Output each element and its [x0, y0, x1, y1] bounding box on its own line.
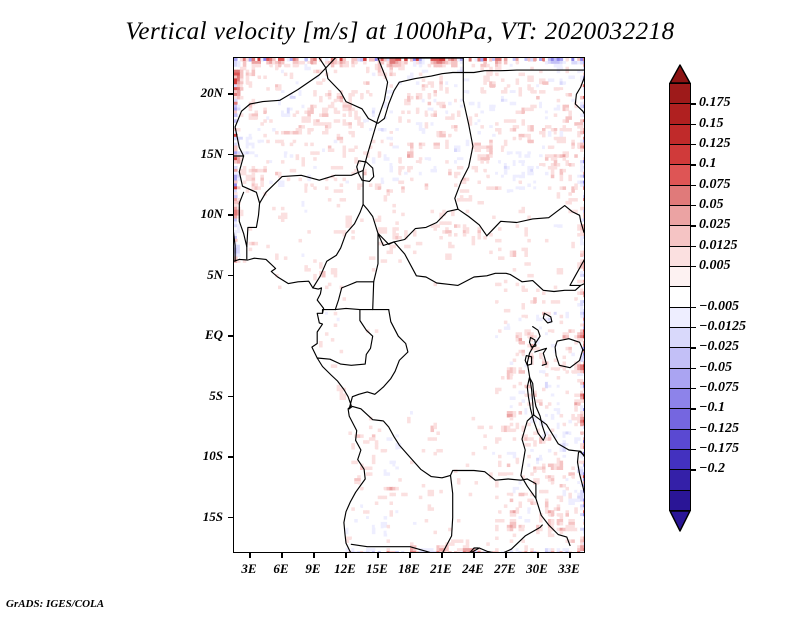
field-cell [340, 350, 344, 354]
field-cell [469, 111, 473, 115]
field-cell [433, 113, 437, 117]
colorbar-label: −0.2 [699, 461, 725, 477]
field-cell [360, 218, 364, 222]
field-cell [343, 198, 347, 202]
field-cell [313, 169, 317, 173]
colorbar-swatch [669, 124, 691, 146]
field-cell [548, 221, 552, 225]
field-cell [530, 108, 534, 112]
field-cell [565, 236, 569, 240]
field-cell [439, 236, 443, 240]
field-cell [290, 274, 294, 278]
colorbar-label: −0.175 [699, 441, 739, 457]
field-cell [560, 315, 564, 319]
x-tick [473, 553, 475, 558]
field-cell [322, 233, 326, 237]
field-cell [463, 496, 467, 500]
field-cell [519, 291, 523, 295]
field-cell [563, 186, 567, 190]
field-cell [278, 146, 282, 150]
x-tick [249, 553, 251, 558]
field-cell [293, 113, 297, 117]
footer-credit: GrADS: IGES/COLA [6, 598, 104, 610]
field-cell [296, 160, 300, 164]
field-cell [530, 274, 534, 278]
field-cell [516, 81, 520, 85]
field-cell [536, 364, 540, 368]
field-cell [530, 233, 534, 237]
field-cell [389, 513, 393, 517]
page-title: Vertical velocity [m/s] at 1000hPa, VT: … [0, 18, 800, 46]
field-cell [501, 519, 505, 523]
field-cell [445, 90, 449, 94]
field-cell [375, 516, 379, 520]
field-cell [521, 186, 525, 190]
field-cell [375, 329, 379, 333]
field-cell [419, 242, 423, 246]
field-cell [366, 461, 370, 465]
field-cell [530, 146, 534, 150]
field-cell [266, 245, 270, 249]
field-cell [472, 90, 476, 94]
field-cell [560, 370, 564, 374]
field-cell [272, 90, 276, 94]
field-cell [237, 160, 241, 164]
field-cell [527, 411, 531, 415]
field-cell [504, 236, 508, 240]
field-cell [475, 175, 479, 179]
field-cell [472, 534, 476, 538]
field-cell [436, 146, 440, 150]
field-cell [395, 221, 399, 225]
field-cell [480, 426, 484, 430]
field-cell [536, 288, 540, 292]
field-cell [568, 201, 572, 205]
field-cell [498, 455, 502, 459]
field-cell [542, 291, 546, 295]
field-cell [551, 175, 555, 179]
field-cell [510, 417, 514, 421]
colorbar-label: −0.1 [699, 400, 725, 416]
field-cell [307, 204, 311, 208]
field-cell [568, 178, 572, 182]
y-tick [228, 456, 233, 458]
colorbar-tick [691, 205, 696, 206]
field-cell [281, 224, 285, 228]
field-cell [498, 464, 502, 468]
colorbar-tick [691, 327, 696, 328]
colorbar-label: 0.005 [699, 258, 731, 274]
field-cell [480, 113, 484, 117]
field-cell [407, 119, 411, 123]
field-cell [433, 501, 437, 505]
field-cell [460, 539, 464, 543]
field-cell [252, 73, 256, 77]
colorbar-swatch [669, 103, 691, 125]
field-cell [354, 274, 358, 278]
field-cell [498, 67, 502, 71]
colorbar-tick [691, 103, 696, 104]
field-cell [568, 379, 572, 383]
field-cell [407, 183, 411, 187]
field-cell [480, 160, 484, 164]
field-cell [249, 248, 253, 252]
colorbar-tick [691, 408, 696, 409]
field-cell [542, 251, 546, 255]
field-cell [331, 64, 335, 68]
field-cell [530, 140, 534, 144]
field-cell [571, 539, 575, 543]
field-cell [384, 259, 388, 263]
field-cell [404, 175, 408, 179]
field-cell [299, 186, 303, 190]
field-cell [548, 324, 552, 328]
field-cell [463, 233, 467, 237]
field-cell [378, 192, 382, 196]
field-cell [316, 207, 320, 211]
field-cell [563, 356, 567, 360]
field-cell [334, 364, 338, 368]
x-tick-label: 21E [430, 561, 452, 577]
field-cell [296, 70, 300, 74]
field-cell [340, 189, 344, 193]
colorbar-tick [691, 266, 696, 267]
x-tick-label: 24E [462, 561, 484, 577]
field-cell [530, 487, 534, 491]
field-cell [504, 504, 508, 508]
field-cell [469, 504, 473, 508]
field-cell [510, 143, 514, 147]
field-cell [560, 522, 564, 526]
field-cell [451, 178, 455, 182]
field-cell [516, 396, 520, 400]
field-cell [252, 210, 256, 214]
field-cell [495, 513, 499, 517]
field-cell [398, 478, 402, 482]
field-cell [392, 528, 396, 532]
field-cell [521, 370, 525, 374]
field-cell [466, 189, 470, 193]
field-cell [401, 528, 405, 532]
field-cell [381, 490, 385, 494]
field-cell [375, 501, 379, 505]
field-cell [304, 213, 308, 217]
field-cell [425, 536, 429, 540]
field-cell [521, 73, 525, 77]
field-cell [313, 277, 317, 281]
field-cell [451, 137, 455, 141]
field-cell [454, 183, 458, 187]
field-cell [325, 332, 329, 336]
x-tick [505, 553, 507, 558]
field-cell [557, 99, 561, 103]
field-cell [489, 525, 493, 529]
field-cell [281, 183, 285, 187]
field-cell [260, 122, 264, 126]
colorbar-swatch [669, 144, 691, 166]
field-cell [357, 67, 361, 71]
field-cell [560, 466, 564, 470]
field-cell [533, 443, 537, 447]
field-cell [469, 198, 473, 202]
field-cell [501, 256, 505, 260]
field-cell [431, 493, 435, 497]
y-tick [228, 214, 233, 216]
field-cell [439, 181, 443, 185]
field-cell [524, 113, 528, 117]
field-cell [398, 96, 402, 100]
field-cell [407, 198, 411, 202]
field-cell [457, 519, 461, 523]
field-cell [560, 531, 564, 535]
field-cell [439, 449, 443, 453]
field-cell [445, 146, 449, 150]
field-cell [345, 64, 349, 68]
field-cell [340, 329, 344, 333]
field-cell [448, 507, 452, 511]
field-cell [257, 131, 261, 135]
field-cell [357, 513, 361, 517]
field-cell [554, 539, 558, 543]
field-cell [483, 446, 487, 450]
field-cell [319, 186, 323, 190]
field-cell [351, 64, 355, 68]
field-cell [334, 259, 338, 263]
field-cell [334, 347, 338, 351]
colorbar-label: 0.05 [699, 197, 724, 213]
colorbar-swatch [669, 225, 691, 247]
y-tick-label: 5N [207, 267, 223, 283]
field-cell [363, 224, 367, 228]
field-cell [360, 154, 364, 158]
field-cell [325, 321, 329, 325]
field-cell [366, 251, 370, 255]
field-cell [433, 531, 437, 535]
field-cell [331, 128, 335, 132]
field-cell [489, 426, 493, 430]
field-cell [583, 113, 585, 117]
field-cell [313, 84, 317, 88]
field-cell [348, 256, 352, 260]
field-cell [483, 434, 487, 438]
field-cell [539, 175, 543, 179]
field-cell [563, 224, 567, 228]
x-tick-label: 3E [241, 561, 256, 577]
field-cell [436, 207, 440, 211]
field-cell [384, 230, 388, 234]
map-frame [233, 57, 585, 553]
field-cell [475, 113, 479, 117]
field-cell [527, 183, 531, 187]
field-cell [507, 464, 511, 468]
field-cell [519, 356, 523, 360]
field-cell [395, 131, 399, 135]
field-cell [513, 437, 517, 441]
field-cell [475, 73, 479, 77]
field-cell [554, 487, 558, 491]
field-cell [345, 137, 349, 141]
colorbar-swatch [669, 205, 691, 227]
field-cell [477, 131, 481, 135]
field-cell [542, 300, 546, 304]
field-cell [545, 490, 549, 494]
field-cell [249, 84, 253, 88]
field-cell [433, 192, 437, 196]
field-cell [451, 90, 455, 94]
field-cell [299, 131, 303, 135]
field-cell [480, 361, 484, 365]
field-cell [516, 443, 520, 447]
x-tick-label: 6E [273, 561, 288, 577]
field-cell [413, 528, 417, 532]
colorbar-swatch [669, 185, 691, 207]
field-cell [304, 253, 308, 257]
field-cell [557, 294, 561, 298]
field-cell [269, 181, 273, 185]
field-cell [519, 382, 523, 386]
field-cell [387, 472, 391, 476]
field-cell [348, 113, 352, 117]
field-cell [504, 201, 508, 205]
field-cell [243, 125, 247, 129]
field-cell [463, 525, 467, 529]
field-cell [571, 76, 575, 80]
field-cell [454, 64, 458, 68]
field-cell [413, 67, 417, 71]
field-cell [448, 189, 452, 193]
colorbar-label: −0.025 [699, 339, 739, 355]
field-cell [530, 99, 534, 103]
colorbar: 0.1750.150.1250.10.0750.050.0250.01250.0… [669, 64, 789, 564]
field-cell [401, 213, 405, 217]
field-cell [486, 487, 490, 491]
field-cell [433, 169, 437, 173]
field-cell [387, 414, 391, 418]
field-cell [498, 309, 502, 313]
field-cell [504, 341, 508, 345]
x-tick-label: 9E [305, 561, 320, 577]
field-cell [475, 431, 479, 435]
field-cell [410, 256, 414, 260]
field-cell [530, 510, 534, 514]
field-cell [354, 484, 358, 488]
field-cell [419, 146, 423, 150]
colorbar-label: 0.025 [699, 217, 731, 233]
field-cell [428, 102, 432, 106]
field-cell [536, 280, 540, 284]
field-cell [563, 297, 567, 301]
field-cell [519, 402, 523, 406]
colorbar-tick [691, 164, 696, 165]
field-cell [331, 148, 335, 152]
field-cell [577, 134, 581, 138]
field-cell [516, 140, 520, 144]
field-cell [551, 78, 555, 82]
field-cell [548, 449, 552, 453]
field-cell [539, 551, 543, 553]
field-cell [454, 420, 458, 424]
field-cell [521, 81, 525, 85]
field-cell [301, 163, 305, 167]
field-cell [375, 113, 379, 117]
field-cell [351, 134, 355, 138]
field-cell [307, 67, 311, 71]
field-cell [504, 61, 508, 65]
field-cell [495, 294, 499, 298]
field-cell [489, 128, 493, 132]
field-cell [492, 455, 496, 459]
x-tick [313, 553, 315, 558]
field-cell [475, 481, 479, 485]
field-cell [574, 388, 578, 392]
field-cell [495, 528, 499, 532]
field-cell [513, 534, 517, 538]
field-cell [451, 452, 455, 456]
field-cell [551, 458, 555, 462]
field-cell [293, 99, 297, 103]
map-canvas [234, 58, 585, 553]
colorbar-swatch [669, 408, 691, 430]
field-cell [560, 321, 564, 325]
field-cell [466, 210, 470, 214]
colorbar-label: −0.075 [699, 380, 739, 396]
field-cell [551, 338, 555, 342]
field-cell [372, 256, 376, 260]
field-cell [560, 178, 564, 182]
field-cell [351, 236, 355, 240]
field-cell [545, 157, 549, 161]
field-cell [369, 76, 373, 80]
field-cell [466, 143, 470, 147]
field-cell [554, 113, 558, 117]
x-tick [281, 553, 283, 558]
field-cell [510, 233, 514, 237]
field-cell [281, 207, 285, 211]
colorbar-label: 0.125 [699, 136, 731, 152]
field-cell [472, 242, 476, 246]
field-cell [392, 481, 396, 485]
field-cell [246, 201, 250, 205]
field-cell [521, 122, 525, 126]
field-cell [513, 102, 517, 106]
field-cell [539, 446, 543, 450]
field-cell [454, 469, 458, 473]
field-cell [472, 259, 476, 263]
field-cell [422, 379, 426, 383]
field-cell [545, 239, 549, 243]
field-cell [439, 87, 443, 91]
field-cell [521, 128, 525, 132]
field-cell [290, 154, 294, 158]
field-cell [510, 192, 514, 196]
field-cell [416, 81, 420, 85]
field-cell [436, 122, 440, 126]
field-cell [539, 472, 543, 476]
field-cell [530, 78, 534, 82]
field-cell [313, 61, 317, 65]
field-cell [536, 96, 540, 100]
y-tick [228, 335, 233, 337]
geo-boundary [394, 242, 510, 286]
field-cell [325, 186, 329, 190]
field-cell [398, 417, 402, 421]
field-cell [568, 192, 572, 196]
field-cell [401, 151, 405, 155]
field-cell [392, 204, 396, 208]
colorbar-swatch [669, 490, 691, 512]
field-cell [436, 472, 440, 476]
field-cell [513, 253, 517, 257]
